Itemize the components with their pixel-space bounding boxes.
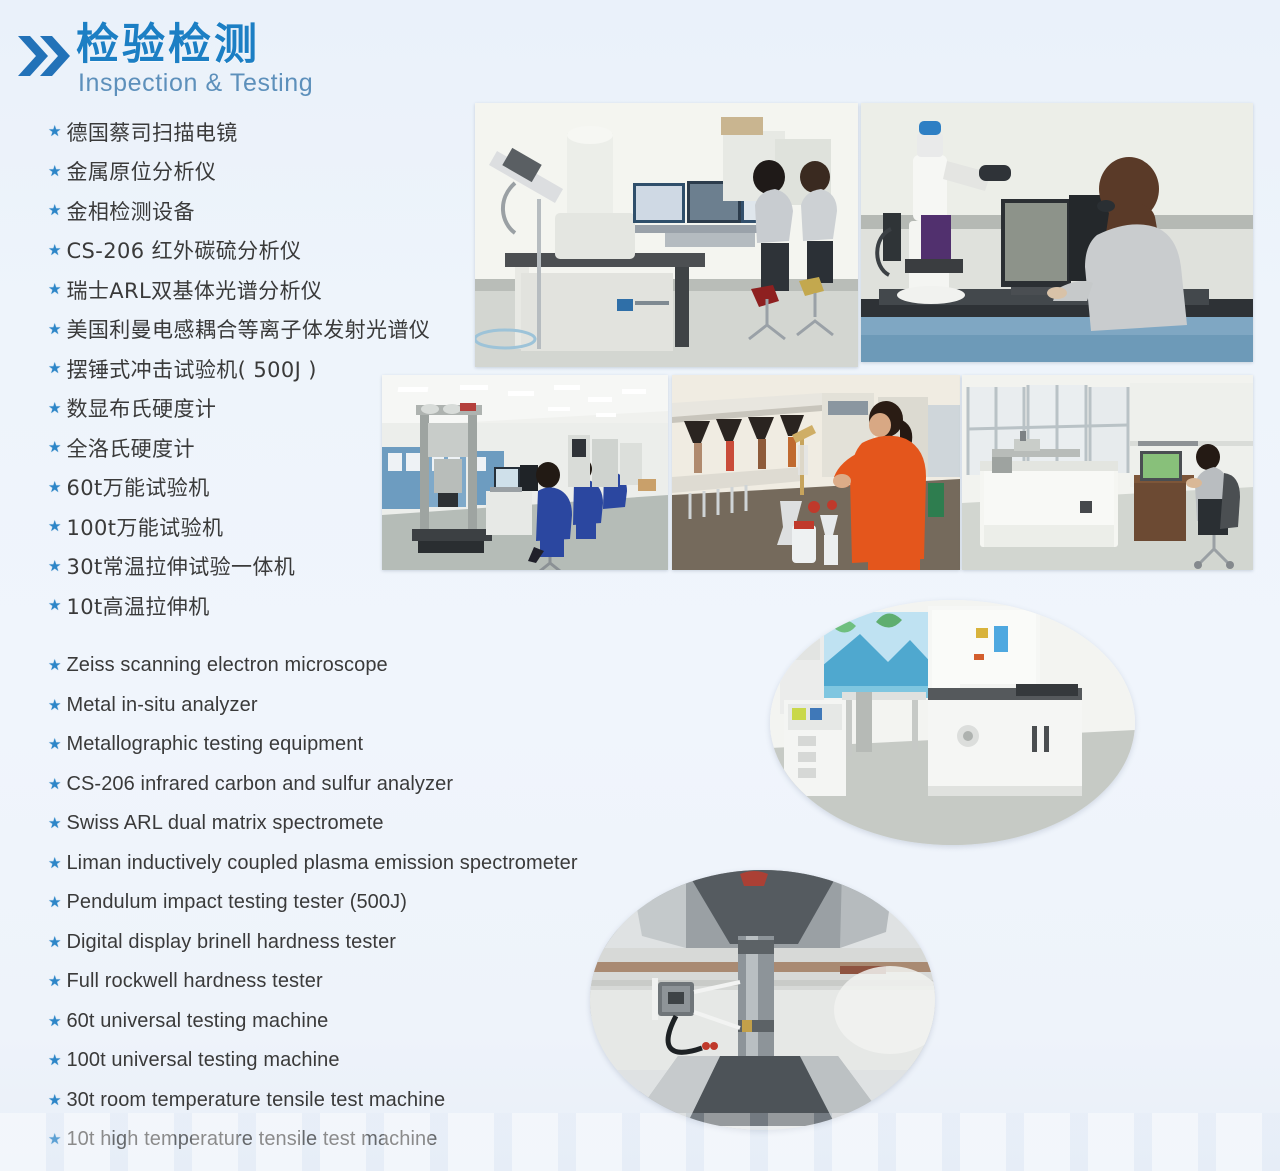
photo-content	[770, 600, 1135, 845]
star-bullet-icon: ★	[48, 164, 61, 179]
list-item-label: 100t万能试验机	[66, 512, 223, 542]
list-item: ★30t room temperature tensile test machi…	[48, 1081, 578, 1121]
star-bullet-icon: ★	[48, 816, 61, 831]
list-item-label: 30t room temperature tensile test machin…	[66, 1089, 445, 1112]
list-item: ★全洛氏硬度计	[48, 428, 430, 468]
list-item: ★Metallographic testing equipment	[48, 725, 578, 765]
list-item-label: 美国利曼电感耦合等离子体发射光谱仪	[66, 314, 430, 344]
spectrometer-room-photo	[962, 375, 1253, 570]
star-bullet-icon: ★	[48, 282, 61, 297]
list-item-label: 60t universal testing machine	[66, 1010, 328, 1033]
list-item: ★摆锤式冲击试验机( 500J )	[48, 349, 430, 389]
list-item-label: Zeiss scanning electron microscope	[66, 654, 387, 677]
list-item: ★60t万能试验机	[48, 468, 430, 508]
universal-testing-machine-lab-photo	[382, 375, 668, 570]
list-item: ★Swiss ARL dual matrix spectromete	[48, 804, 578, 844]
photo-content	[861, 103, 1253, 362]
list-item-label: 100t universal testing machine	[66, 1049, 339, 1072]
star-bullet-icon: ★	[48, 519, 61, 534]
page-header: 检验检测 Inspection & Testing	[14, 22, 434, 98]
list-item-label: Liman inductively coupled plasma emissio…	[66, 852, 577, 875]
chemical-analysis-lab-photo	[672, 375, 960, 570]
star-bullet-icon: ★	[48, 1132, 61, 1147]
list-item: ★数显布氏硬度计	[48, 389, 430, 429]
list-item-label: Digital display brinell hardness tester	[66, 931, 396, 954]
list-item: ★100t万能试验机	[48, 507, 430, 547]
inspection-testing-page: 检验检测 Inspection & Testing ★德国蔡司扫描电镜 ★金属原…	[0, 0, 1280, 1171]
list-item: ★Digital display brinell hardness tester	[48, 923, 578, 963]
list-item: ★60t universal testing machine	[48, 1002, 578, 1042]
list-item: ★CS-206 红外碳硫分析仪	[48, 231, 430, 271]
star-bullet-icon: ★	[48, 440, 61, 455]
star-bullet-icon: ★	[48, 935, 61, 950]
star-bullet-icon: ★	[48, 1014, 61, 1029]
list-item-label: 金相检测设备	[66, 196, 194, 226]
list-item: ★Liman inductively coupled plasma emissi…	[48, 844, 578, 884]
tensile-test-specimen-oval-photo	[590, 870, 935, 1130]
list-item: ★德国蔡司扫描电镜	[48, 112, 430, 152]
list-item-label: Pendulum impact testing tester (500J)	[66, 891, 407, 914]
list-item: ★100t universal testing machine	[48, 1041, 578, 1081]
list-item-label: 全洛氏硬度计	[66, 433, 194, 463]
list-item: ★30t常温拉伸试验一体机	[48, 547, 430, 587]
star-bullet-icon: ★	[48, 658, 61, 673]
list-item: ★金相检测设备	[48, 191, 430, 231]
star-bullet-icon: ★	[48, 361, 61, 376]
list-item: ★10t高温拉伸机	[48, 586, 430, 626]
list-item: ★CS-206 infrared carbon and sulfur analy…	[48, 765, 578, 805]
list-item-label: Metallographic testing equipment	[66, 733, 363, 756]
list-item: ★Zeiss scanning electron microscope	[48, 646, 578, 686]
list-item: ★金属原位分析仪	[48, 152, 430, 192]
metallographic-microscope-photo	[861, 103, 1253, 362]
list-item-label: 金属原位分析仪	[66, 156, 216, 186]
star-bullet-icon: ★	[48, 974, 61, 989]
equipment-list-english: ★Zeiss scanning electron microscope ★Met…	[48, 646, 578, 1160]
star-bullet-icon: ★	[48, 559, 61, 574]
list-item-label: Swiss ARL dual matrix spectromete	[66, 812, 383, 835]
scanning-electron-microscope-lab-photo	[475, 103, 858, 367]
star-bullet-icon: ★	[48, 480, 61, 495]
photo-content	[672, 375, 960, 570]
list-item: ★Full rockwell hardness tester	[48, 962, 578, 1002]
equipment-list-chinese: ★德国蔡司扫描电镜 ★金属原位分析仪 ★金相检测设备 ★CS-206 红外碳硫分…	[48, 112, 430, 626]
star-bullet-icon: ★	[48, 895, 61, 910]
star-bullet-icon: ★	[48, 737, 61, 752]
list-item-label: 德国蔡司扫描电镜	[66, 117, 237, 147]
double-chevron-icon	[16, 32, 72, 80]
photo-content	[962, 375, 1253, 570]
star-bullet-icon: ★	[48, 124, 61, 139]
star-bullet-icon: ★	[48, 698, 61, 713]
star-bullet-icon: ★	[48, 243, 61, 258]
star-bullet-icon: ★	[48, 856, 61, 871]
list-item-label: 30t常温拉伸试验一体机	[66, 551, 295, 581]
list-item-label: 10t high temperature tensile test machin…	[66, 1128, 437, 1151]
list-item-label: 瑞士ARL双基体光谱分析仪	[66, 275, 322, 305]
list-item: ★美国利曼电感耦合等离子体发射光谱仪	[48, 310, 430, 350]
list-item: ★Pendulum impact testing tester (500J)	[48, 883, 578, 923]
list-item-label: CS-206 红外碳硫分析仪	[66, 235, 301, 265]
star-bullet-icon: ★	[48, 1053, 61, 1068]
list-item-label: Metal in-situ analyzer	[66, 694, 257, 717]
list-item-label: 摆锤式冲击试验机( 500J )	[66, 354, 316, 384]
star-bullet-icon: ★	[48, 777, 61, 792]
photo-content	[382, 375, 668, 570]
photo-content	[475, 103, 858, 367]
page-title-english: Inspection & Testing	[78, 71, 313, 96]
star-bullet-icon: ★	[48, 598, 61, 613]
list-item-label: 60t万能试验机	[66, 472, 209, 502]
page-title-chinese: 检验检测	[76, 24, 260, 67]
list-item: ★10t high temperature tensile test machi…	[48, 1120, 578, 1160]
photo-content	[590, 870, 935, 1130]
list-item: ★瑞士ARL双基体光谱分析仪	[48, 270, 430, 310]
list-item-label: Full rockwell hardness tester	[66, 970, 322, 993]
star-bullet-icon: ★	[48, 322, 61, 337]
list-item: ★Metal in-situ analyzer	[48, 686, 578, 726]
star-bullet-icon: ★	[48, 203, 61, 218]
list-item-label: CS-206 infrared carbon and sulfur analyz…	[66, 773, 453, 796]
spectrometer-equipment-oval-photo	[770, 600, 1135, 845]
list-item-label: 10t高温拉伸机	[66, 591, 209, 621]
star-bullet-icon: ★	[48, 1093, 61, 1108]
list-item-label: 数显布氏硬度计	[66, 393, 216, 423]
star-bullet-icon: ★	[48, 401, 61, 416]
